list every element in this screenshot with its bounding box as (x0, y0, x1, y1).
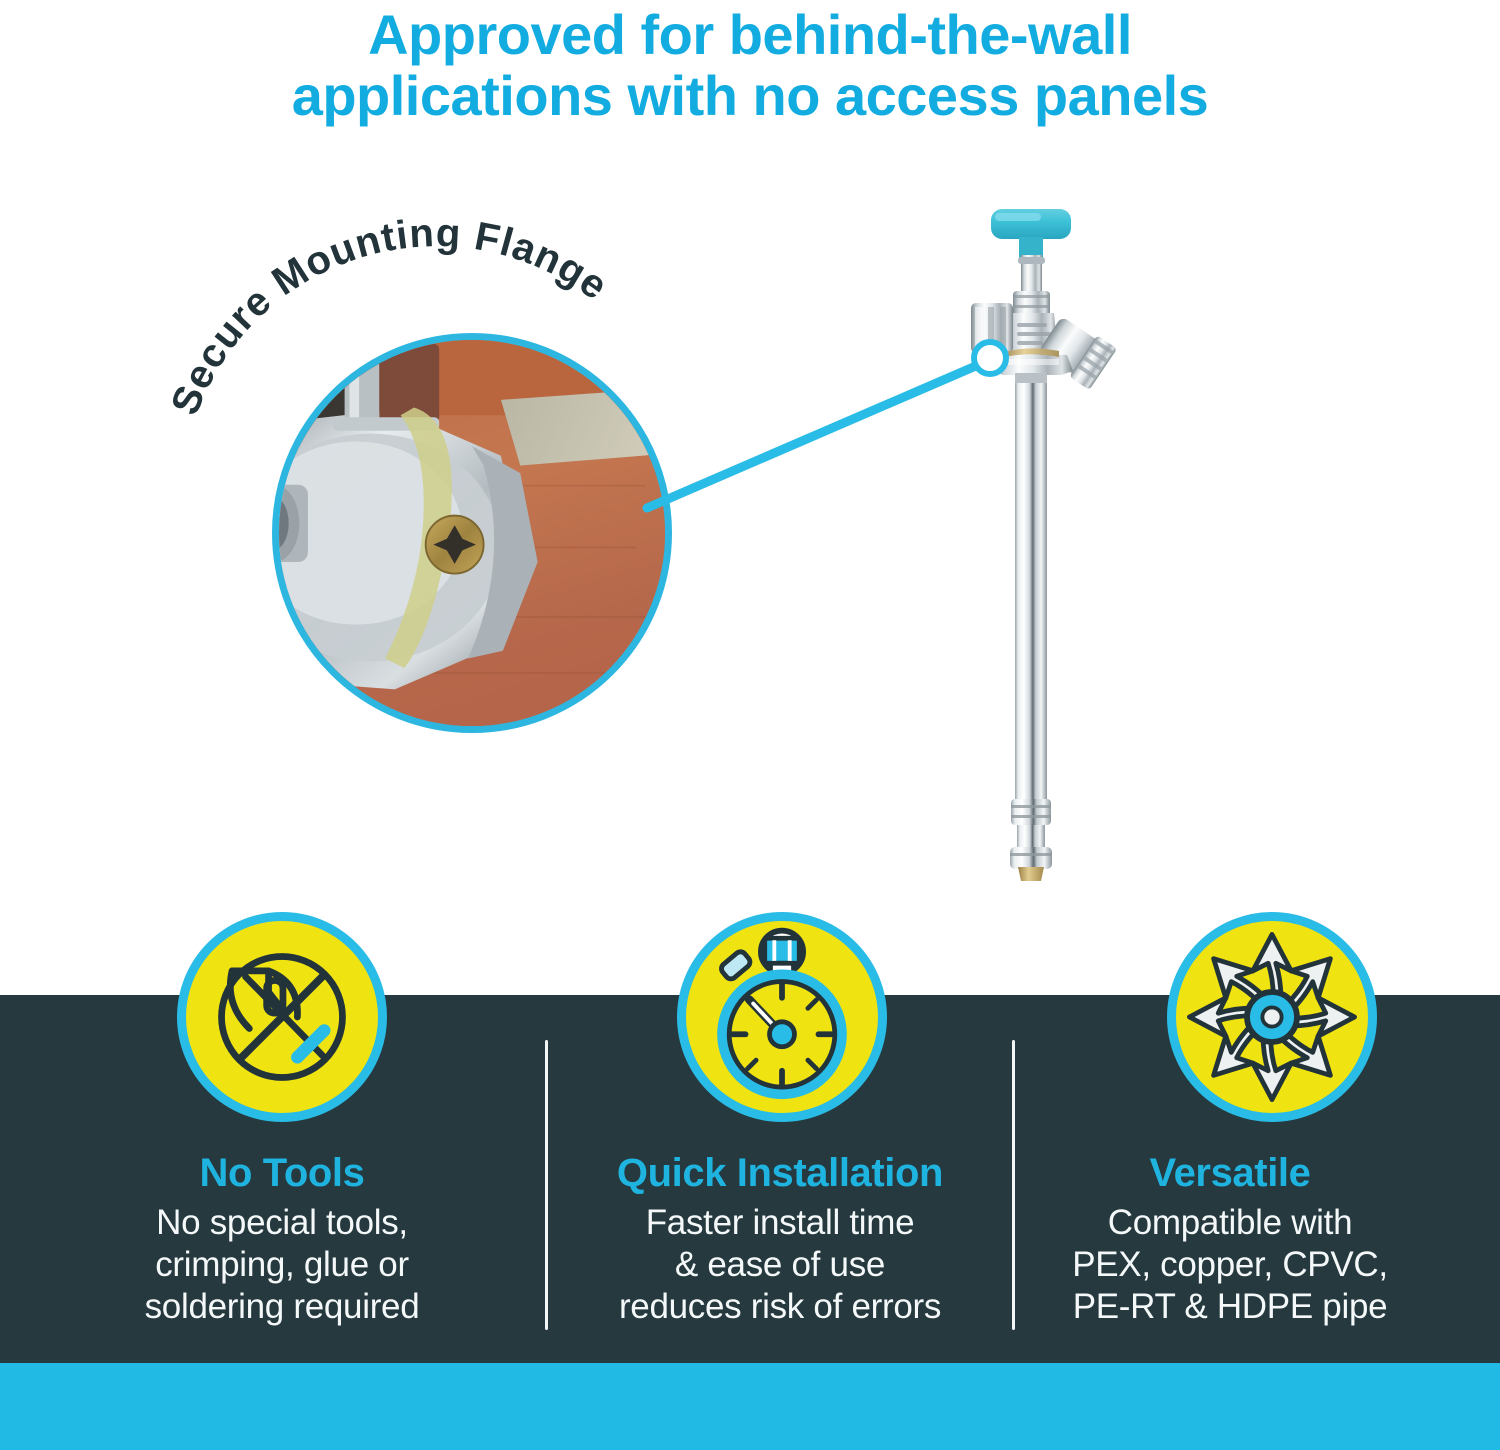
stopwatch-icon (677, 912, 887, 1122)
infographic-page: Approved for behind-the-wall application… (0, 0, 1500, 1450)
flange-screw (426, 516, 484, 574)
feature-description: Compatible with PEX, copper, CPVC, PE-RT… (1000, 1202, 1460, 1327)
product-image (955, 195, 1130, 885)
mounting-flange (993, 355, 1073, 375)
valve-handle (991, 209, 1071, 259)
page-title: Approved for behind-the-wall application… (0, 4, 1500, 126)
feature-description: No special tools, crimping, glue or sold… (52, 1202, 512, 1327)
leader-line-path (647, 362, 985, 508)
stem-coupling (1010, 799, 1052, 869)
stopwatch-side-button (719, 949, 752, 981)
bottom-accent-strip (0, 1363, 1500, 1450)
feature-column-no-tools: No Tools No special tools, crimping, glu… (52, 1152, 512, 1327)
radiating-arrows-icon (1167, 912, 1377, 1122)
feature-title: Quick Installation (550, 1152, 1010, 1194)
vacuum-breaker-cap (971, 303, 1013, 353)
callout-photo (272, 333, 672, 733)
feature-title: No Tools (52, 1152, 512, 1194)
no-tools-icon (177, 912, 387, 1122)
feature-column-quick-installation: Quick Installation Faster install time &… (550, 1152, 1010, 1327)
column-divider-1 (545, 1040, 548, 1330)
feature-column-versatile: Versatile Compatible with PEX, copper, C… (1000, 1152, 1460, 1327)
feature-title: Versatile (1000, 1152, 1460, 1194)
feature-description: Faster install time & ease of use reduce… (550, 1202, 1010, 1327)
